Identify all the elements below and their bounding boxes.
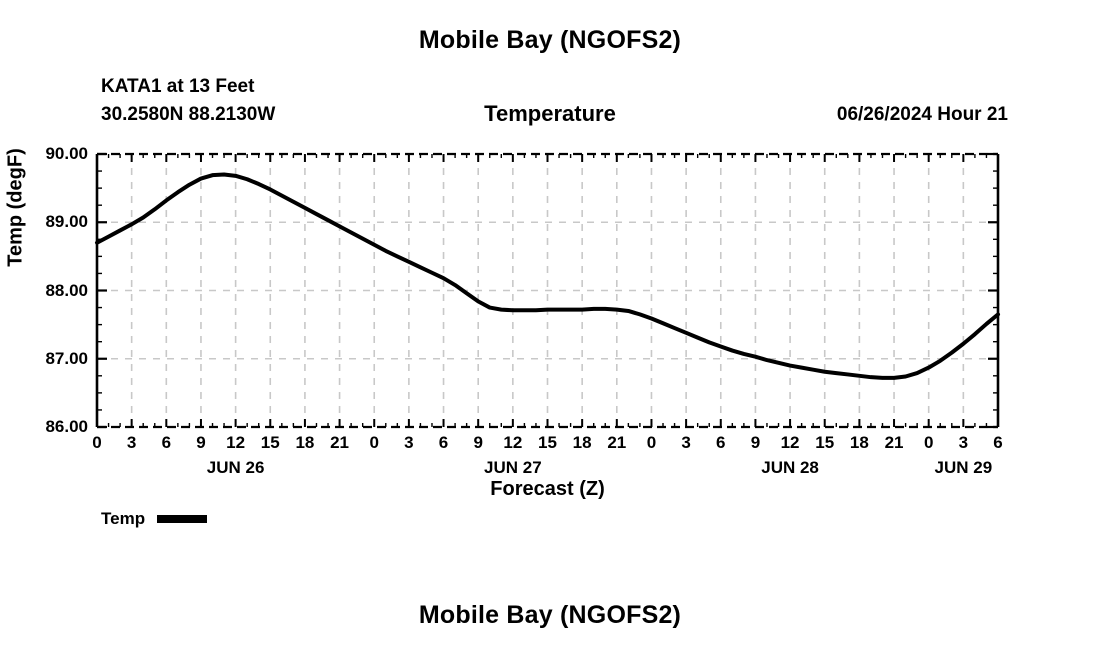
- legend-line-swatch: [157, 515, 207, 523]
- x-axis-tick-label: 6: [716, 433, 725, 453]
- x-axis-tick-label: 3: [127, 433, 136, 453]
- x-axis-tick-label: 6: [993, 433, 1002, 453]
- x-axis-day-label: JUN 29: [935, 458, 993, 478]
- x-axis-day-label: JUN 27: [484, 458, 542, 478]
- chart-legend: Temp: [101, 509, 207, 529]
- x-axis-tick-label: 9: [196, 433, 205, 453]
- x-axis-day-label: JUN 26: [207, 458, 265, 478]
- y-axis-tick-label: 90.00: [45, 144, 88, 164]
- x-axis-tick-label: 12: [226, 433, 245, 453]
- x-axis-tick-label: 9: [473, 433, 482, 453]
- x-axis-tick-label: 0: [647, 433, 656, 453]
- x-axis-tick-label: 3: [681, 433, 690, 453]
- x-axis-tick-label: 18: [295, 433, 314, 453]
- temperature-line-chart: [97, 154, 998, 427]
- x-axis-tick-label: 3: [404, 433, 413, 453]
- page-title-bottom: Mobile Bay (NGOFS2): [0, 601, 1100, 630]
- x-axis-tick-label: 18: [850, 433, 869, 453]
- x-axis-tick-label: 15: [261, 433, 280, 453]
- x-axis-tick-label: 0: [92, 433, 101, 453]
- x-axis-tick-label: 3: [959, 433, 968, 453]
- x-axis-day-label: JUN 28: [761, 458, 819, 478]
- chart-page: Mobile Bay (NGOFS2) KATA1 at 13 Feet 30.…: [0, 0, 1100, 650]
- y-axis-tick-label: 89.00: [45, 212, 88, 232]
- plot-container: Temp (degF) 90.0089.0088.0087.0086.00 03…: [0, 0, 1100, 650]
- x-axis-tick-label: 15: [538, 433, 557, 453]
- x-axis-tick-label: 12: [503, 433, 522, 453]
- x-axis-tick-label: 21: [885, 433, 904, 453]
- x-axis-tick-label: 21: [330, 433, 349, 453]
- plot-area: [97, 154, 998, 427]
- y-axis-tick-label: 87.00: [45, 349, 88, 369]
- x-axis-tick-label: 6: [439, 433, 448, 453]
- x-axis-tick-label: 12: [781, 433, 800, 453]
- x-axis-tick-label: 6: [162, 433, 171, 453]
- x-axis-tick-label: 0: [924, 433, 933, 453]
- x-axis-tick-label: 9: [751, 433, 760, 453]
- x-axis-label: Forecast (Z): [97, 478, 998, 501]
- x-axis-tick-label: 21: [607, 433, 626, 453]
- x-axis-tick-label: 0: [369, 433, 378, 453]
- x-axis-tick-label: 18: [573, 433, 592, 453]
- y-axis-tick-label: 86.00: [45, 417, 88, 437]
- legend-item-label: Temp: [101, 509, 145, 529]
- y-axis-tick-label: 88.00: [45, 281, 88, 301]
- y-axis-tick-labels: 90.0089.0088.0087.0086.00: [0, 0, 88, 650]
- x-axis-tick-label: 15: [815, 433, 834, 453]
